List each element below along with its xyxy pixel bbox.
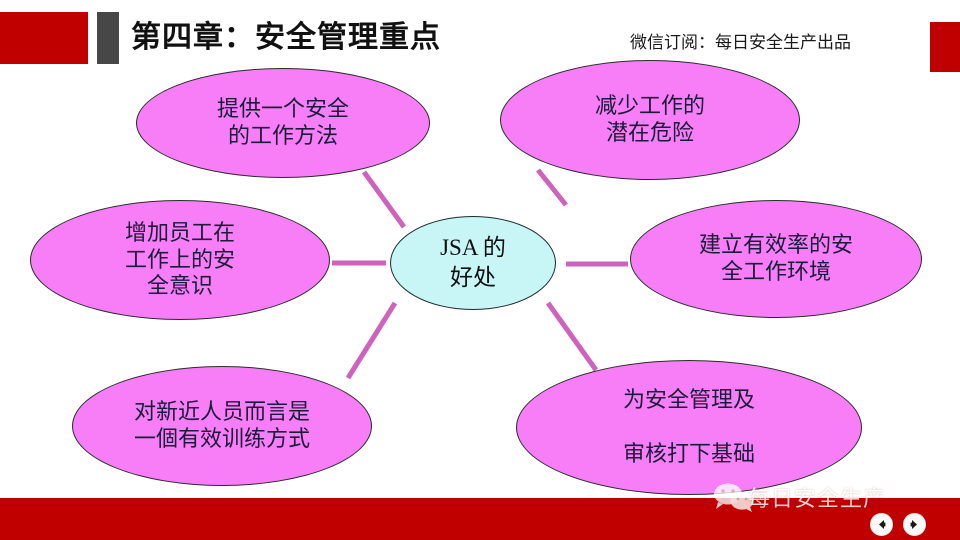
node-center-jsa-benefits[interactable]: JSA 的 好处 xyxy=(390,216,556,310)
node-bottom-right[interactable]: 为安全管理及 审核打下基础 xyxy=(516,360,862,495)
slide-canvas: 第四章：安全管理重点 微信订阅：每日安全生产出品 提供一个安全 的工作方法 减少… xyxy=(0,0,960,540)
node-left[interactable]: 增加员工在 工作上的安 全意识 xyxy=(30,200,330,320)
nav-next-button[interactable] xyxy=(903,513,926,536)
node-right[interactable]: 建立有效率的安 全工作环境 xyxy=(630,200,922,318)
connector-top-right xyxy=(538,170,566,205)
connector-bottom-right xyxy=(548,303,596,370)
nav-prev-button[interactable] xyxy=(870,513,893,536)
node-top-right[interactable]: 减少工作的 潜在危险 xyxy=(500,60,800,180)
watermark-text: 每日安全生产 xyxy=(748,481,886,513)
node-top-left[interactable]: 提供一个安全 的工作方法 xyxy=(136,68,430,178)
arrow-left-icon xyxy=(875,518,888,531)
connector-bottom-left xyxy=(348,303,395,378)
arrow-right-icon xyxy=(908,518,921,531)
connector-top-left xyxy=(364,172,404,227)
node-bottom-left[interactable]: 对新近人员而言是 一個有效训练方式 xyxy=(72,366,372,486)
